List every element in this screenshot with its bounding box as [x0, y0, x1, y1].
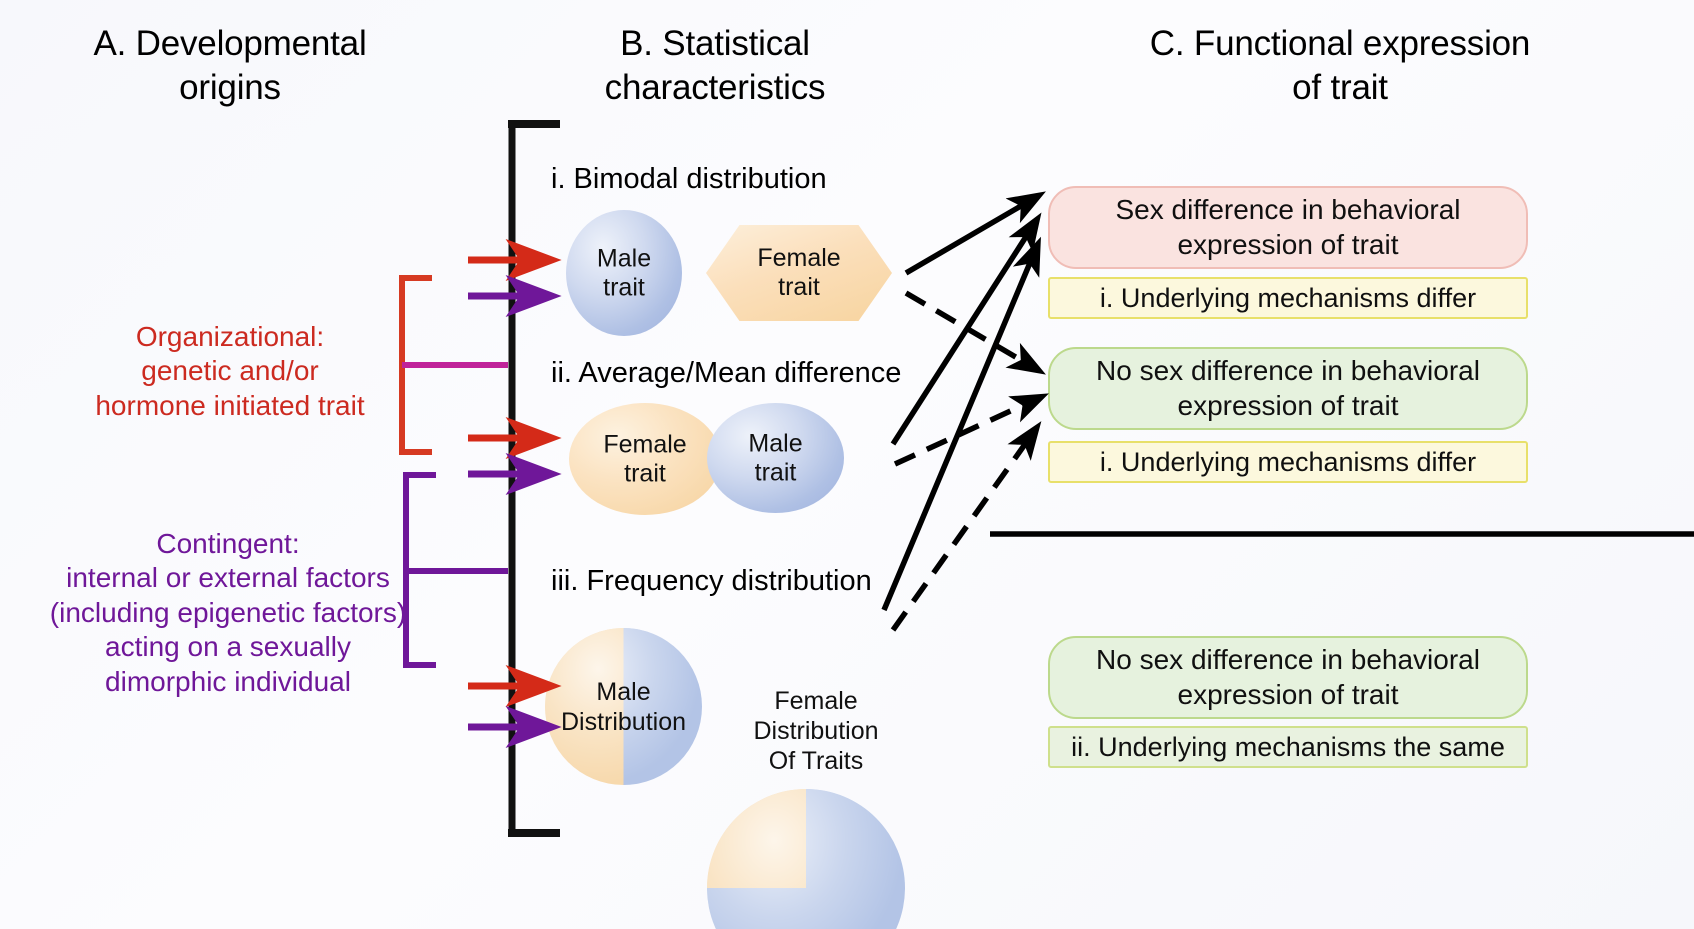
column-c-heading: C. Functional expression of trait: [1030, 22, 1650, 110]
shape-female-trait-average: Female trait: [569, 403, 721, 515]
outcome-line1: No sex difference in behavioral: [1096, 643, 1480, 677]
shape-female-trait-bimodal-label: Female trait: [706, 225, 892, 321]
outcome-line1: Sex difference in behavioral: [1115, 193, 1460, 227]
pie-label-line1: Female: [753, 686, 878, 716]
origin-contingent-line3: (including epigenetic factors): [22, 596, 434, 630]
shape-male-trait-bimodal: Male trait: [566, 210, 682, 336]
pie-label-line2: Distribution: [561, 707, 686, 737]
column-b-heading: B. Statistical characteristics: [525, 22, 905, 110]
shape-label-line1: Male: [707, 429, 844, 458]
origin-contingent-line2: internal or external factors: [22, 561, 434, 595]
outcome-box-mechanisms-same[interactable]: ii. Underlying mechanisms the same: [1048, 726, 1528, 768]
outcome-line1: ii. Underlying mechanisms the same: [1071, 731, 1505, 764]
outcome-line2: expression of trait: [1115, 228, 1460, 262]
shape-label-line1: Female: [569, 430, 721, 459]
outcome-arrows-solid: [884, 203, 1032, 610]
column-b-heading-line2: characteristics: [525, 66, 905, 110]
pie-label-line2: Distribution: [753, 716, 878, 746]
origin-contingent-line1: Contingent:: [22, 527, 434, 561]
pie-female-distribution-label: Female Distribution Of Traits: [717, 632, 915, 830]
shape-label-line2: trait: [569, 459, 721, 488]
outcome-line2: expression of trait: [1096, 389, 1480, 423]
shape-label-line2: trait: [707, 458, 844, 487]
outcome-box-mechanisms-differ-1[interactable]: i. Underlying mechanisms differ: [1048, 277, 1528, 319]
shape-male-trait-average-label: Male trait: [707, 429, 844, 487]
section-heading-bimodal: i. Bimodal distribution: [551, 163, 827, 196]
shape-label-line2: trait: [757, 273, 840, 302]
outcome-box-sex-difference[interactable]: Sex difference in behavioral expression …: [1048, 186, 1528, 269]
origin-organizational-line2: genetic and/or: [40, 354, 420, 388]
outcome-line1: i. Underlying mechanisms differ: [1100, 446, 1476, 479]
shape-label-line1: Female: [757, 244, 840, 273]
origin-arrows-bimodal: [468, 260, 528, 296]
pie-label-line3: Of Traits: [753, 746, 878, 776]
column-c-heading-line2: of trait: [1030, 66, 1650, 110]
origin-organizational-line1: Organizational:: [40, 320, 420, 354]
figure-canvas: A. Developmental origins B. Statistical …: [0, 0, 1694, 929]
pie-label-line1: Male: [561, 677, 686, 707]
origin-arrows-frequency: [468, 686, 528, 727]
origin-label-contingent: Contingent: internal or external factors…: [22, 527, 434, 699]
origin-contingent-line4: acting on a sexually: [22, 630, 434, 664]
origin-contingent-line5: dimorphic individual: [22, 665, 434, 699]
outcome-line1: i. Underlying mechanisms differ: [1100, 282, 1476, 315]
outcome-line1: No sex difference in behavioral: [1096, 354, 1480, 388]
origin-arrows-average: [468, 438, 528, 474]
section-heading-frequency: iii. Frequency distribution: [551, 565, 872, 598]
column-a-heading-line1: A. Developmental: [30, 22, 430, 66]
shape-female-trait-average-label: Female trait: [569, 430, 721, 488]
origin-label-organizational: Organizational: genetic and/or hormone i…: [40, 320, 420, 423]
section-heading-average: ii. Average/Mean difference: [551, 357, 901, 390]
shape-male-trait-average: Male trait: [707, 403, 844, 513]
shape-label-line2: trait: [566, 273, 682, 302]
column-c-heading-line1: C. Functional expression: [1030, 22, 1650, 66]
column-a-heading: A. Developmental origins: [30, 22, 430, 110]
outcome-box-no-sex-difference-1[interactable]: No sex difference in behavioral expressi…: [1048, 347, 1528, 430]
outcome-box-mechanisms-differ-2[interactable]: i. Underlying mechanisms differ: [1048, 441, 1528, 483]
shape-male-trait-bimodal-label: Male trait: [566, 244, 682, 302]
shape-label-line1: Male: [566, 244, 682, 273]
outcome-arrows-dashed: [893, 293, 1028, 630]
outcome-line2: expression of trait: [1096, 678, 1480, 712]
outcome-box-no-sex-difference-2[interactable]: No sex difference in behavioral expressi…: [1048, 636, 1528, 719]
column-b-heading-line1: B. Statistical: [525, 22, 905, 66]
column-a-heading-line2: origins: [30, 66, 430, 110]
pie-male-distribution-label: Male Distribution: [545, 628, 702, 785]
origin-organizational-line3: hormone initiated trait: [40, 389, 420, 423]
